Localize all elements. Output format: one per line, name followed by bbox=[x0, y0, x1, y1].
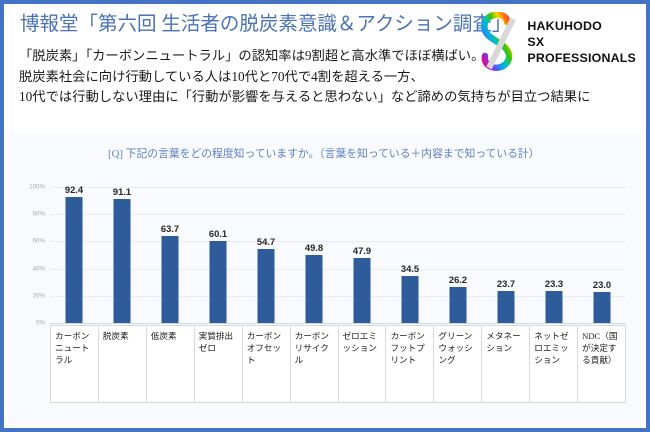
chart-panel: [Q] 下記の言葉をどの程度知っていますか。（言葉を知っている＋内容まで知ってい… bbox=[8, 133, 642, 424]
logo-line-2: SX bbox=[527, 35, 636, 51]
category-label: 低炭素 bbox=[147, 326, 195, 402]
bar[interactable] bbox=[594, 292, 611, 323]
bar[interactable] bbox=[354, 258, 371, 323]
bar-slot: 92.4 bbox=[50, 187, 98, 323]
category-label: カーボンオフセット bbox=[243, 326, 291, 402]
y-axis-tick-label: 40% bbox=[33, 265, 45, 272]
category-label: ネットゼロエミッション bbox=[530, 326, 578, 402]
category-label: カーボンニュートラル bbox=[51, 326, 99, 402]
bar-value-label: 63.7 bbox=[161, 223, 179, 234]
bar-value-label: 60.1 bbox=[209, 228, 227, 239]
bar-value-label: 49.8 bbox=[305, 242, 323, 253]
category-label: グリーンウォッシング bbox=[434, 326, 482, 402]
category-label-table: カーボンニュートラル脱炭素低炭素実質排出ゼロカーボンオフセットカーボンリサイクル… bbox=[50, 325, 626, 403]
header: 博報堂「第六回 生活者の脱炭素意識＆アクション調査」 「脱炭素」「カーボンニュー… bbox=[4, 4, 646, 129]
bar-slot: 23.7 bbox=[482, 187, 530, 323]
category-label: 脱炭素 bbox=[99, 326, 147, 402]
plot-area: 0%20%40%60%80%100% 92.491.163.760.154.74… bbox=[50, 187, 626, 323]
bar-slot: 34.5 bbox=[386, 187, 434, 323]
bar-value-label: 23.0 bbox=[593, 279, 611, 290]
bar[interactable] bbox=[114, 199, 131, 323]
bar-series: 92.491.163.760.154.749.847.934.526.223.7… bbox=[50, 187, 626, 323]
brand-logo: HAKUHODO SX PROFESSIONALS bbox=[476, 12, 636, 74]
category-label: カーボンリサイクル bbox=[291, 326, 339, 402]
logo-wordmark: HAKUHODO SX PROFESSIONALS bbox=[527, 19, 636, 67]
category-label: NDC（国が決定する貢献） bbox=[578, 326, 626, 402]
screenshot-root: 博報堂「第六回 生活者の脱炭素意識＆アクション調査」 「脱炭素」「カーボンニュー… bbox=[0, 0, 650, 432]
bar[interactable] bbox=[210, 241, 227, 323]
category-label: ゼロエミッション bbox=[339, 326, 387, 402]
header-lead-line-3: 10代では行動しない理由に「行動が影響を与えると思わない」など諦めの気持ちが目立… bbox=[19, 87, 632, 107]
gridline: 0% bbox=[50, 323, 626, 324]
bar[interactable] bbox=[306, 255, 323, 323]
bar-slot: 49.8 bbox=[290, 187, 338, 323]
y-axis-tick-label: 80% bbox=[33, 211, 45, 218]
bar[interactable] bbox=[162, 236, 179, 323]
bar-slot: 91.1 bbox=[98, 187, 146, 323]
bar[interactable] bbox=[66, 197, 83, 323]
bar[interactable] bbox=[402, 276, 419, 323]
bar-slot: 47.9 bbox=[338, 187, 386, 323]
bar-value-label: 34.5 bbox=[401, 263, 419, 274]
bar[interactable] bbox=[450, 287, 467, 323]
hakuhodo-sx-infinity-mark-icon bbox=[476, 12, 522, 74]
y-axis-tick-label: 100% bbox=[29, 184, 45, 191]
bar-slot: 54.7 bbox=[242, 187, 290, 323]
bar-value-label: 26.2 bbox=[449, 274, 467, 285]
bar-value-label: 23.3 bbox=[545, 278, 563, 289]
bar-value-label: 54.7 bbox=[257, 236, 275, 247]
y-axis-tick-label: 20% bbox=[33, 292, 45, 299]
logo-line-1: HAKUHODO bbox=[527, 19, 636, 35]
bar-slot: 60.1 bbox=[194, 187, 242, 323]
y-axis-tick-label: 0% bbox=[36, 320, 45, 327]
bar-slot: 26.2 bbox=[434, 187, 482, 323]
bar-value-label: 47.9 bbox=[353, 245, 371, 256]
category-label: メタネーション bbox=[482, 326, 530, 402]
bar[interactable] bbox=[498, 291, 515, 323]
bar-slot: 23.3 bbox=[530, 187, 578, 323]
bar-slot: 23.0 bbox=[578, 187, 626, 323]
bar-value-label: 91.1 bbox=[113, 186, 131, 197]
bar[interactable] bbox=[258, 249, 275, 323]
logo-line-3: PROFESSIONALS bbox=[527, 51, 636, 67]
bar-value-label: 23.7 bbox=[497, 278, 515, 289]
category-label: カーボンフットプリント bbox=[386, 326, 434, 402]
bar[interactable] bbox=[546, 291, 563, 323]
bar-slot: 63.7 bbox=[146, 187, 194, 323]
category-label: 実質排出ゼロ bbox=[195, 326, 243, 402]
bar-value-label: 92.4 bbox=[65, 184, 83, 195]
chart-title: [Q] 下記の言葉をどの程度知っていますか。（言葉を知っている＋内容まで知ってい… bbox=[108, 145, 540, 161]
y-axis-tick-label: 60% bbox=[33, 238, 45, 245]
